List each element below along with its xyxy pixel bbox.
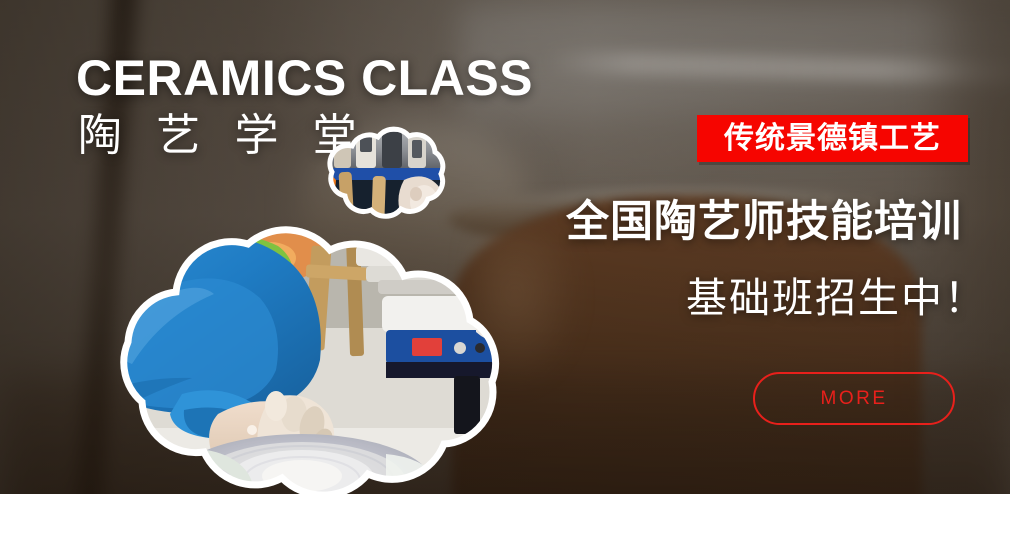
badge-label: 传统景德镇工艺 [724, 124, 941, 154]
status-badge: 传统景德镇工艺 [697, 115, 968, 162]
ceramics-class-banner: CERAMICS CLASS 陶 艺 学 堂 [0, 0, 1010, 538]
more-button[interactable]: MORE [753, 372, 955, 425]
bottom-white-band [0, 494, 1010, 538]
promo-line-2: 基础班招生中！ [686, 276, 987, 321]
headline-english: CERAMICS CLASS [76, 52, 533, 105]
promo-line-1: 全国陶艺师技能培训 [566, 199, 962, 246]
headline-block: CERAMICS CLASS 陶 艺 学 堂 [76, 52, 533, 160]
child-throwing-clay-cloud-photo [56, 218, 542, 528]
pottery-tools-cloud-photo [312, 124, 452, 228]
headline-chinese: 陶 艺 学 堂 [78, 111, 533, 160]
